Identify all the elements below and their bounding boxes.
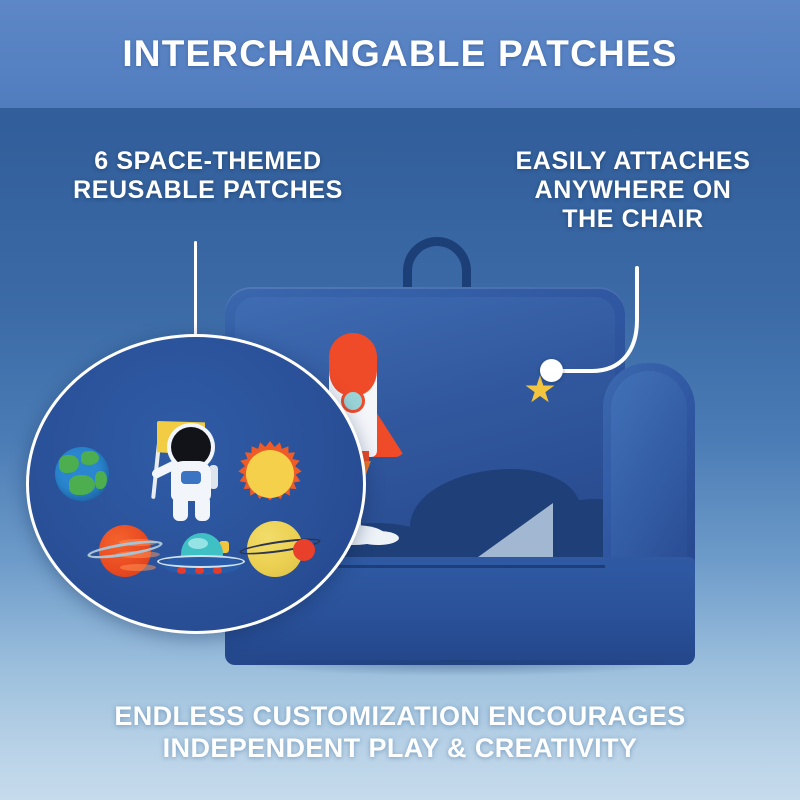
- saturn-moon: [293, 539, 315, 561]
- page-title: INTERCHANGABLE PATCHES: [0, 33, 800, 75]
- rocket-smoke-puff: [357, 531, 399, 545]
- sun-patch: [237, 441, 303, 507]
- footer-tagline: ENDLESS CUSTOMIZATION ENCOURAGES INDEPEN…: [0, 700, 800, 765]
- footer-line1: ENDLESS CUSTOMIZATION ENCOURAGES: [0, 700, 800, 732]
- rocket-fin-right: [373, 407, 405, 457]
- red-planet-patch: [87, 519, 163, 581]
- astronaut-leg: [173, 497, 188, 521]
- callout-left: 6 SPACE-THEMED REUSABLE PATCHES: [38, 147, 378, 205]
- chair-drop-shadow: [235, 660, 685, 676]
- footer-line2: INDEPENDENT PLAY & CREATIVITY: [0, 732, 800, 764]
- ufo-dome-highlight: [188, 538, 208, 549]
- callout-right-line2: ANYWHERE ON: [478, 176, 788, 205]
- callout-right-line3: THE CHAIR: [478, 205, 788, 234]
- astronaut-patch: [125, 409, 221, 521]
- chair-handle-icon: [403, 237, 471, 293]
- header-banner: INTERCHANGABLE PATCHES: [0, 0, 800, 108]
- product-marketing-image: INTERCHANGABLE PATCHES 6 SPACE-THEMED RE…: [0, 0, 800, 800]
- earth-landmass: [69, 475, 95, 495]
- earth-landmass: [59, 455, 79, 473]
- callout-right-line1: EASILY ATTACHES: [478, 147, 788, 176]
- earth-landmass: [81, 451, 99, 465]
- ufo-light: [213, 567, 222, 574]
- rocket-porthole: [341, 389, 365, 413]
- ufo-light: [177, 567, 186, 574]
- ufo-light: [195, 567, 204, 574]
- sun-core: [246, 450, 294, 498]
- callout-left-line2: REUSABLE PATCHES: [38, 176, 378, 205]
- chair-armrest-inner: [611, 371, 687, 568]
- attachment-point-dot: [540, 359, 563, 382]
- ufo-rim: [157, 555, 245, 568]
- rocket-nose-cone: [329, 333, 377, 395]
- earth-landmass: [95, 471, 107, 489]
- astronaut-chest-panel: [181, 471, 201, 484]
- callout-right: EASILY ATTACHES ANYWHERE ON THE CHAIR: [478, 147, 788, 234]
- callout-left-line1: 6 SPACE-THEMED: [38, 147, 378, 176]
- chair-armrest: [603, 363, 695, 568]
- astronaut-leg: [195, 497, 210, 521]
- patch-closeup-circle: [26, 334, 366, 634]
- leader-line-left: [194, 241, 197, 341]
- saturn-patch: [239, 515, 321, 583]
- planet-stripe: [120, 564, 156, 571]
- ufo-patch: [157, 533, 245, 583]
- earth-patch: [55, 447, 109, 501]
